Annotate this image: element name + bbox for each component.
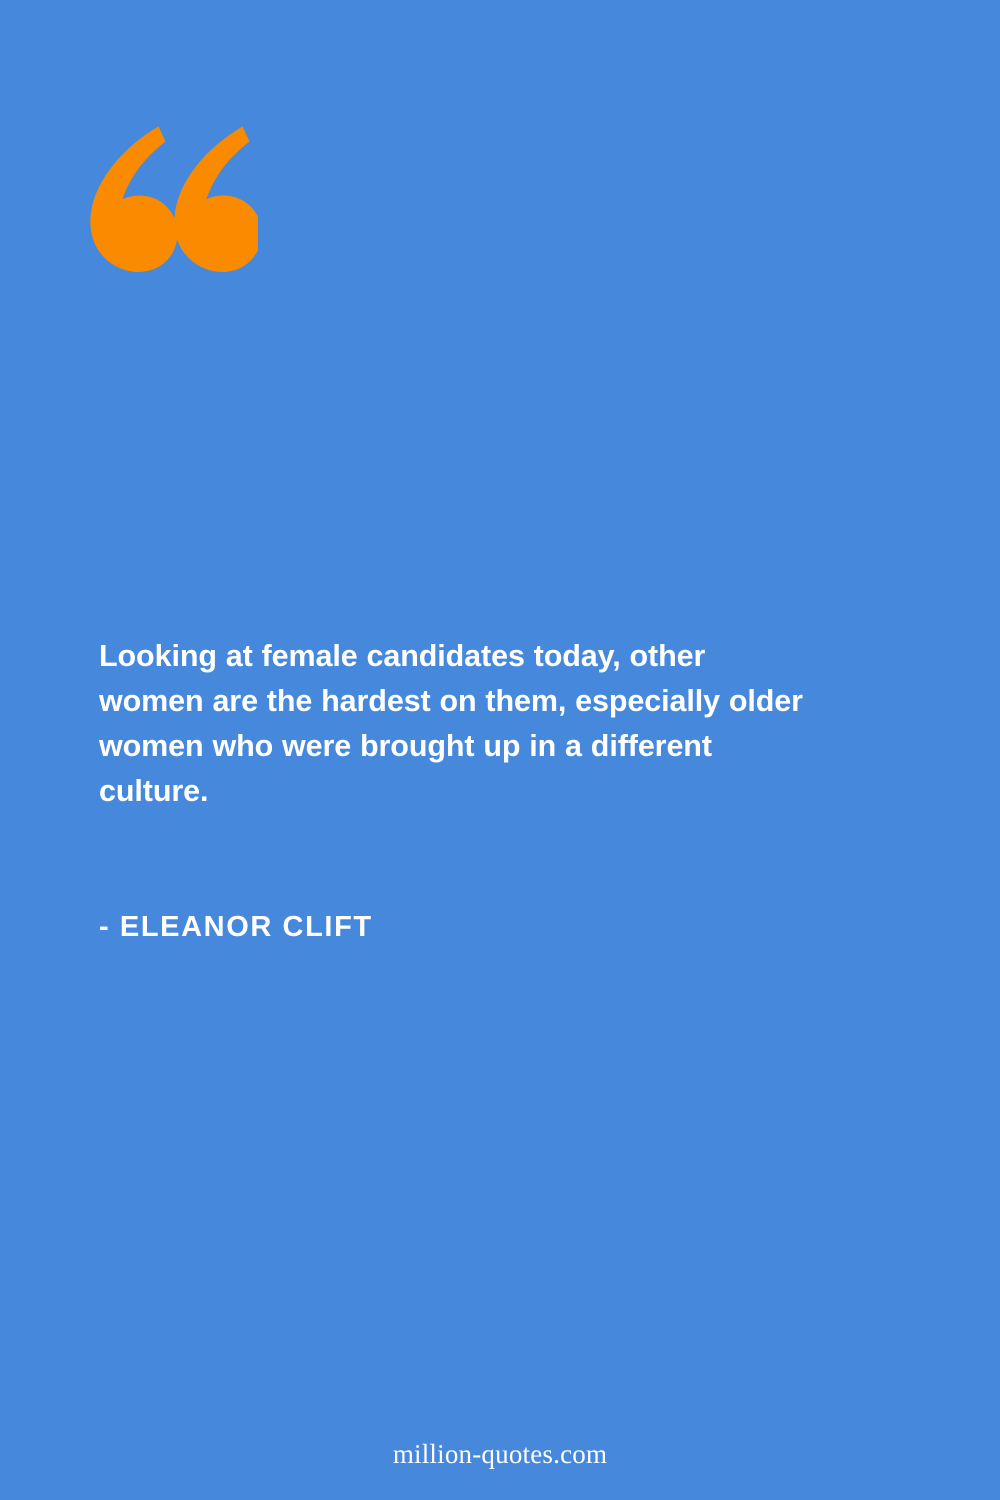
quote-attribution: - ELEANOR CLIFT bbox=[99, 909, 373, 945]
quote-poster: Looking at female candidates today, othe… bbox=[0, 0, 1000, 1500]
quote-block: Looking at female candidates today, othe… bbox=[99, 634, 805, 814]
site-watermark: million-quotes.com bbox=[0, 1437, 1000, 1471]
quote-text: Looking at female candidates today, othe… bbox=[99, 634, 805, 814]
open-quotation-mark-icon bbox=[88, 122, 258, 282]
